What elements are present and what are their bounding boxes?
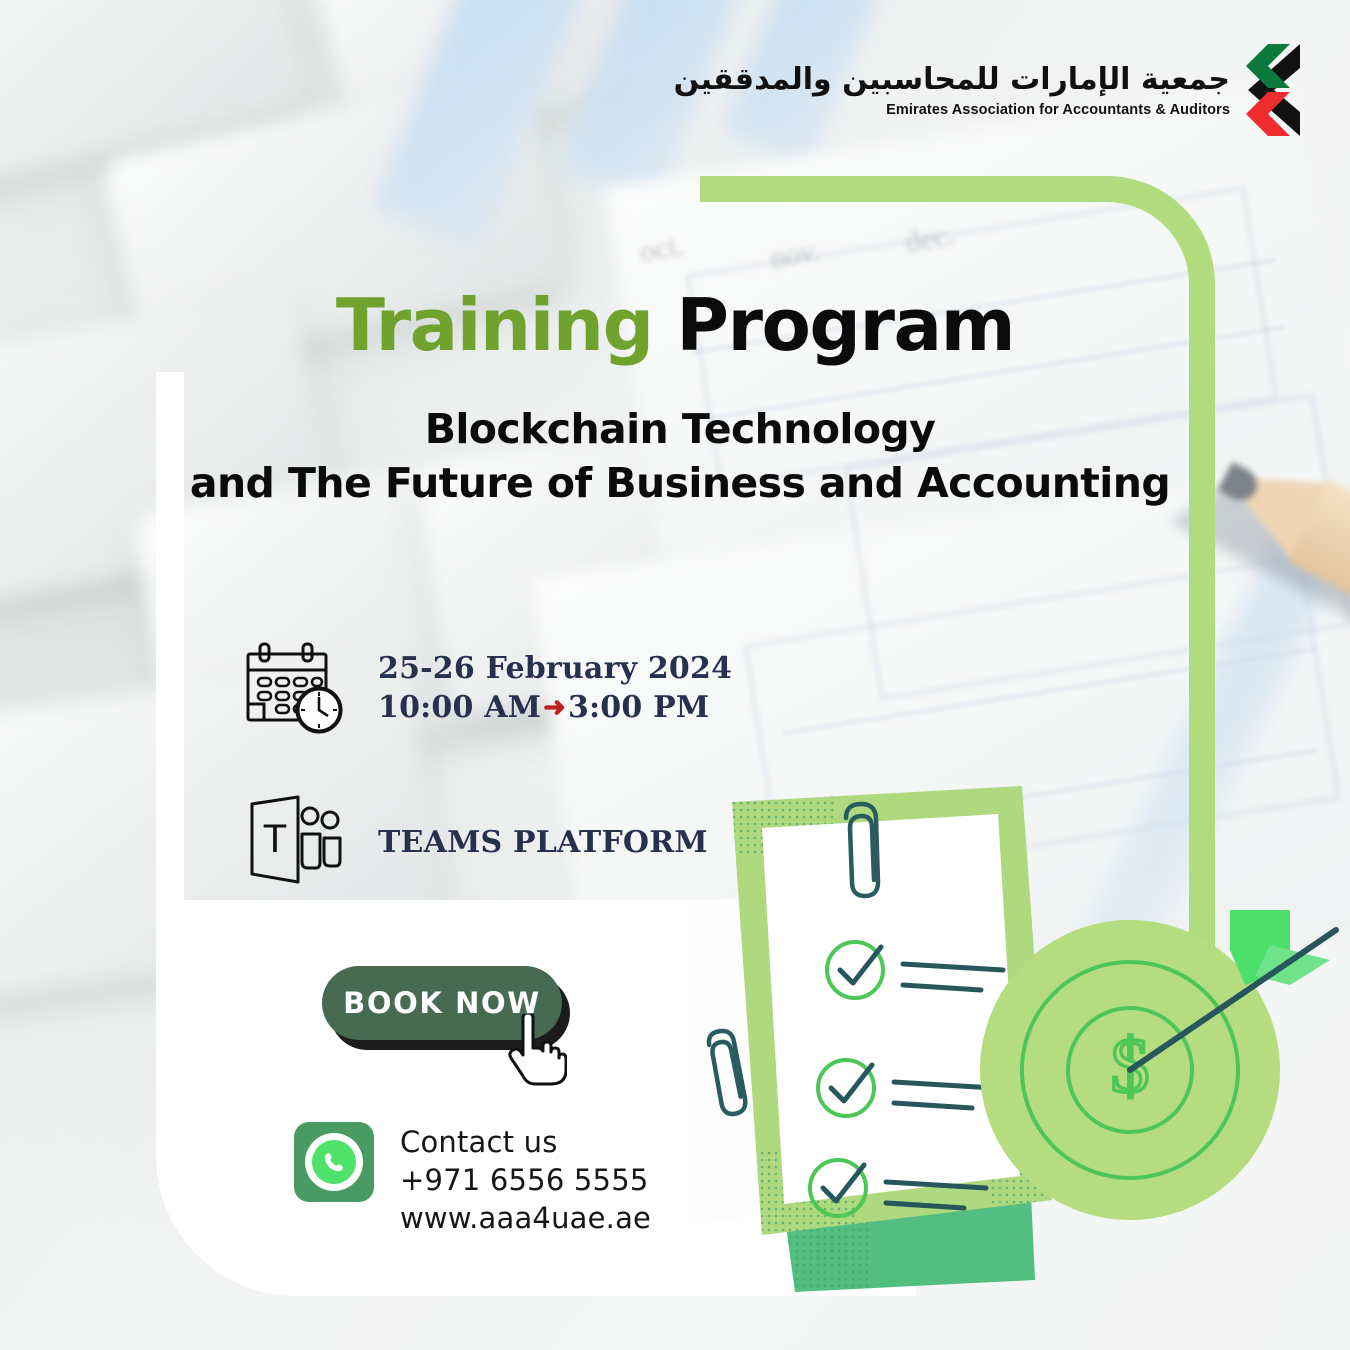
contact-text: Contact us +971 6556 5555 www.aaa4uae.ae <box>400 1122 651 1238</box>
subtitle-line-2: and The Future of Business and Accountin… <box>180 456 1180 510</box>
microsoft-teams-icon: T <box>240 794 350 890</box>
poster-canvas: oct. nov. dec. جمعية الإمارات للمحاسبين … <box>0 0 1350 1350</box>
title-word-training: Training <box>336 283 653 367</box>
pointing-hand-cursor-icon <box>505 1014 567 1086</box>
detail-platform-text: TEAMS PLATFORM <box>378 823 708 862</box>
svg-text:$: $ <box>1111 1022 1150 1109</box>
checklist-target-arrow-illustration: $ <box>690 780 1350 1320</box>
contact-phone[interactable]: +971 6556 5555 <box>400 1162 651 1200</box>
contact-block: Contact us +971 6556 5555 www.aaa4uae.ae <box>294 1122 651 1238</box>
subtitle-line-1: Blockchain Technology <box>180 402 1180 456</box>
whatsapp-icon[interactable] <box>294 1122 374 1202</box>
subtitle: Blockchain Technology and The Future of … <box>180 402 1180 510</box>
logo-arabic-name: جمعية الإمارات للمحاسبين والمدققين <box>674 64 1230 96</box>
detail-date-line: 25-26 February 2024 <box>378 649 732 688</box>
detail-date-text: 25-26 February 2024 10:00 AM➜3:00 PM <box>378 649 732 727</box>
detail-time-start: 10:00 AM <box>378 690 541 725</box>
svg-text:T: T <box>263 817 287 861</box>
title-word-program: Program <box>676 283 1014 367</box>
organization-logo: جمعية الإمارات للمحاسبين والمدققين Emira… <box>674 42 1328 140</box>
detail-row-date: 25-26 February 2024 10:00 AM➜3:00 PM <box>240 640 800 736</box>
calendar-clock-icon <box>240 640 350 736</box>
time-range-arrow-icon: ➜ <box>541 692 568 723</box>
logo-english-name: Emirates Association for Accountants & A… <box>674 102 1230 118</box>
book-now-area: BOOK NOW <box>322 966 582 1086</box>
contact-website[interactable]: www.aaa4uae.ae <box>400 1200 651 1238</box>
contact-label: Contact us <box>400 1124 651 1162</box>
chevron-logo-icon <box>1244 42 1328 140</box>
page-title: Training Program <box>0 289 1350 361</box>
detail-time-end: 3:00 PM <box>568 690 709 725</box>
